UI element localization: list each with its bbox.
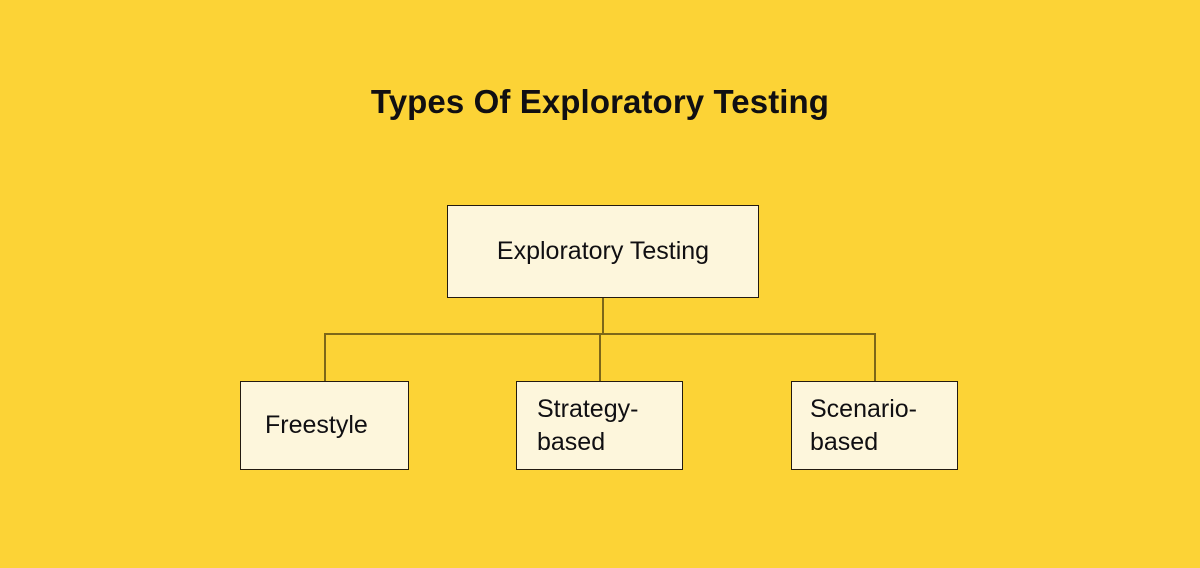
node-freestyle: Freestyle: [240, 381, 409, 470]
connector-drop-freestyle: [324, 333, 326, 381]
node-strategy-based: Strategy- based: [516, 381, 683, 470]
connector-drop-scenario: [874, 333, 876, 381]
node-scenario-based: Scenario- based: [791, 381, 958, 470]
connector-drop-strategy: [599, 333, 601, 381]
diagram-canvas: Types Of Exploratory Testing Exploratory…: [0, 0, 1200, 568]
page-title: Types Of Exploratory Testing: [0, 80, 1200, 124]
node-exploratory-testing: Exploratory Testing: [447, 205, 759, 298]
connector-root-stem: [602, 298, 604, 334]
node-label: Scenario- based: [810, 393, 957, 459]
node-label: Strategy- based: [537, 393, 682, 459]
node-label: Freestyle: [265, 409, 408, 442]
node-label: Exploratory Testing: [448, 235, 758, 268]
